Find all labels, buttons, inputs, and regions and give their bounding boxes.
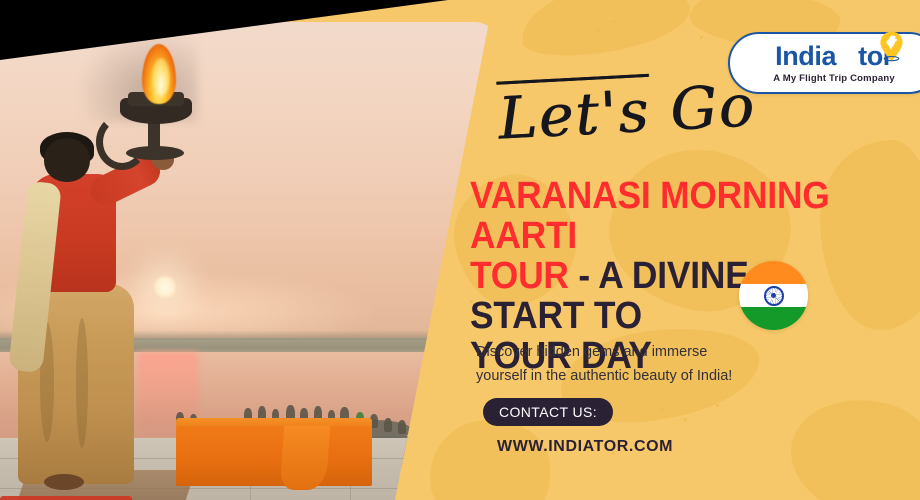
map-texture-blob [516,0,694,63]
headline-line-2: TOUR - A DIVINE START TO [470,256,870,336]
flag-green-band [739,307,808,330]
logo-word-part-2: a [821,41,836,71]
cloth-fold [76,318,88,448]
map-texture-dot [684,418,687,421]
map-texture-dot [700,36,703,39]
hero-photo-inner [0,22,500,500]
priest-foot [44,474,84,490]
headline-red-1: VARANASI MORNING AARTI [470,175,830,257]
ashoka-chakra-hub [771,293,776,298]
map-texture-dot [716,404,719,407]
priest-head [44,138,90,182]
pilgrim [384,418,392,432]
brand-logo[interactable]: Indiator A My Flight Trip Company [728,32,920,94]
subtitle-line-2: yourself in the authentic beauty of Indi… [476,364,814,388]
sun [152,274,178,300]
map-texture-dot [660,408,664,412]
map-texture-blob [778,384,920,500]
map-texture-dot [596,28,600,32]
flag-saffron-band [739,261,808,284]
contact-us-badge[interactable]: CONTACT US: [483,398,613,426]
red-cloth [0,496,132,500]
logo-word-part-1: Indi [775,41,821,71]
website-url[interactable]: WWW.INDIATOR.COM [497,438,673,456]
contact-us-label: CONTACT US: [499,404,597,420]
headline-red-2: TOUR [470,255,569,297]
script-word-lets: Let's [496,77,651,153]
location-pin-india-icon [879,31,904,62]
map-texture-dot [612,20,615,23]
pilgrim [412,422,420,435]
subtitle-line-1: Discover hidden gems and immerse [476,340,814,364]
script-headline: Let's Go [496,71,757,152]
script-word-go: Go [668,71,757,143]
logo-tagline: A My Flight Trip Company [773,73,895,84]
india-flag-circle-icon [739,261,808,330]
promo-banner: Indiator A My Flight Trip Company Let's … [0,0,920,500]
map-texture-blob [430,420,550,500]
pilgrim [398,420,406,434]
headline-line-1: VARANASI MORNING AARTI [470,176,870,256]
altar-platform [176,426,372,486]
logo-wordmark: Indiator [775,43,893,70]
subtitle: Discover hidden gems and immerse yoursel… [476,340,814,388]
flame-core [152,58,170,96]
hero-photo [0,22,500,500]
